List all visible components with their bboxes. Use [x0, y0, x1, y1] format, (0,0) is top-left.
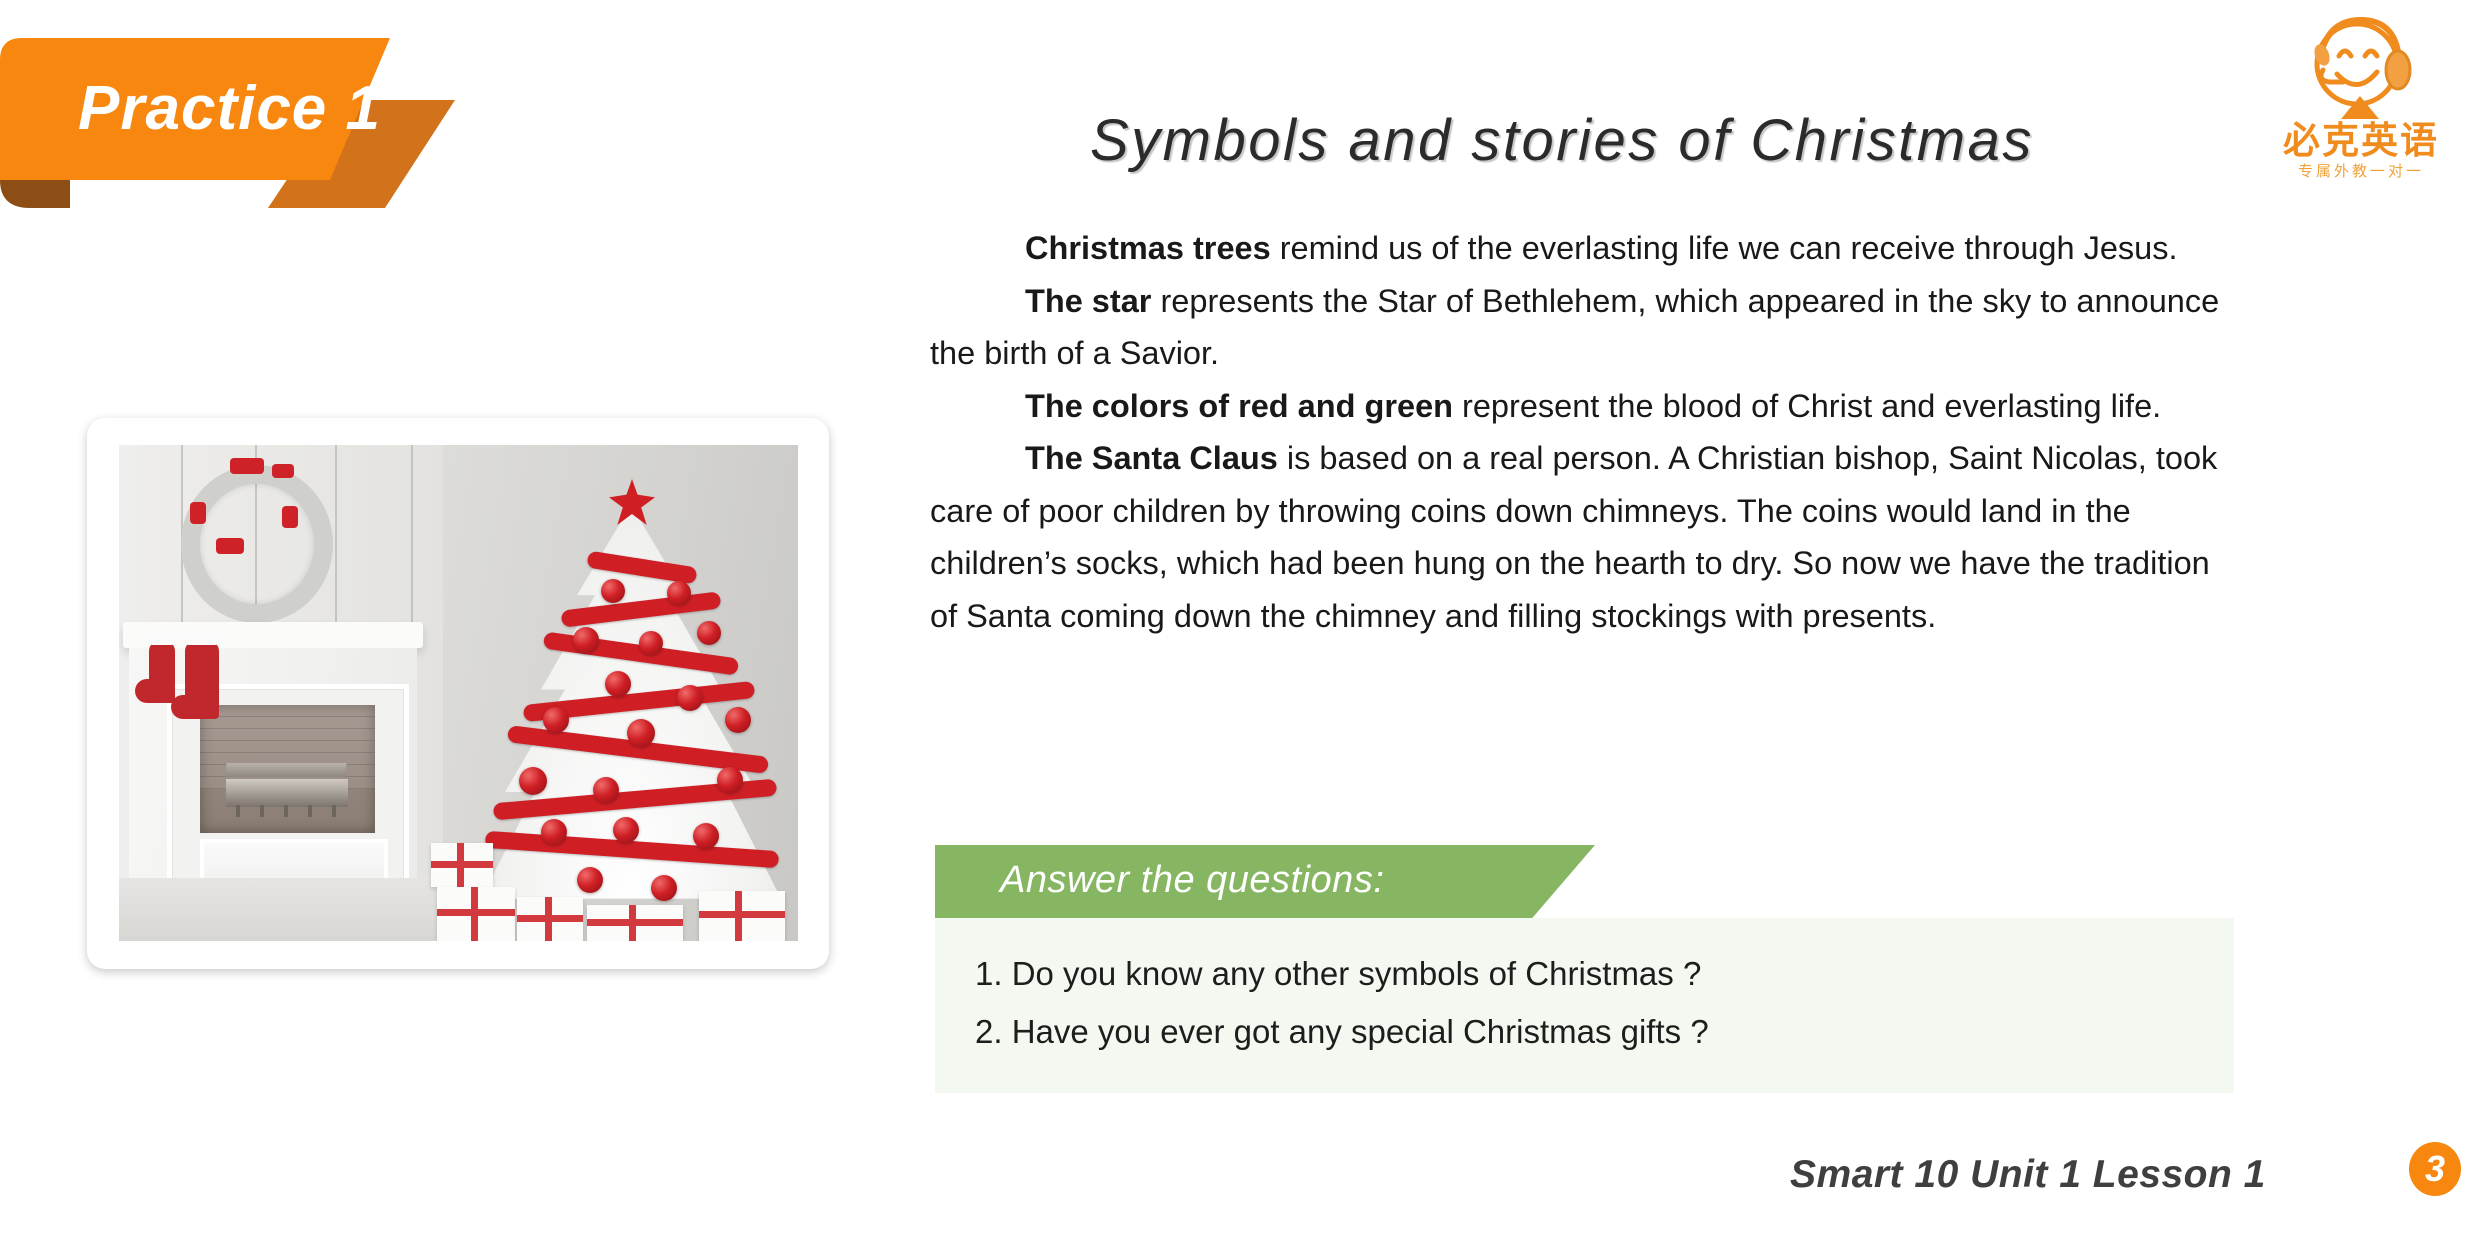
paragraph-lead: The colors of red and green [1025, 388, 1453, 424]
paragraph-christmas-trees: Christmas trees remind us of the everlas… [930, 222, 2230, 275]
paragraph-santa-claus: The Santa Claus is based on a real perso… [930, 432, 2230, 642]
paragraph-lead: The Santa Claus [1025, 440, 1278, 476]
paragraph-colors: The colors of red and green represent th… [930, 380, 2230, 433]
practice-banner: Practice 1 [0, 30, 600, 210]
logo-brand-tagline: 专属外教一对一 [2261, 164, 2461, 179]
paragraph-rest: represent the blood of Christ and everla… [1453, 388, 2161, 424]
page-number-badge: 3 [2409, 1142, 2461, 1196]
paragraph-the-star: The star represents the Star of Bethlehe… [930, 275, 2230, 380]
list-item: 2. Have you ever got any special Christm… [975, 1012, 2234, 1052]
footer-lesson-label: Smart 10 Unit 1 Lesson 1 [1790, 1155, 2266, 1194]
answer-questions-box: 1. Do you know any other symbols of Chri… [935, 918, 2234, 1093]
answer-banner-label: Answer the questions: [1000, 858, 1384, 904]
answer-banner: Answer the questions: [935, 845, 1595, 918]
christmas-photo [119, 445, 798, 941]
logo: 必克英语 专属外教一对一 [2261, 14, 2461, 209]
smiling-face-with-headset-icon [2299, 14, 2421, 122]
paragraph-lead: Christmas trees [1025, 230, 1271, 266]
page-title: Symbols and stories of Christmas [1090, 112, 2034, 170]
logo-brand-name: 必克英语 [2261, 122, 2461, 159]
paragraph-lead: The star [1025, 283, 1151, 319]
paragraph-rest: remind us of the everlasting life we can… [1271, 230, 2178, 266]
lesson-body-text: Christmas trees remind us of the everlas… [930, 222, 2230, 642]
list-item: 1. Do you know any other symbols of Chri… [975, 954, 2234, 994]
practice-label: Practice 1 [78, 78, 381, 140]
question-list: 1. Do you know any other symbols of Chri… [935, 918, 2234, 1052]
christmas-photo-card [87, 418, 829, 969]
